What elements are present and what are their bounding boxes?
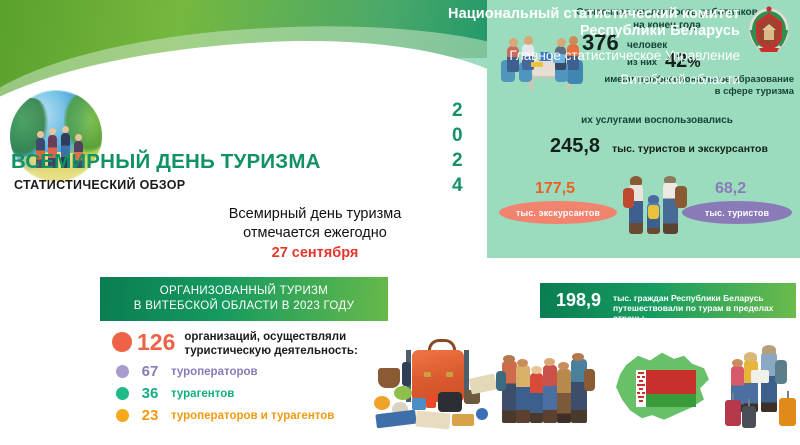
backpack-flap (412, 350, 464, 376)
travel-agents-value: 36 (129, 385, 171, 402)
traveler-hat-3 (762, 345, 776, 354)
legend-row-both: 23 туроператоров и турагентов (112, 407, 358, 424)
tourism-day-note: Всемирный день туризма отмечается ежегод… (150, 205, 480, 263)
both-bullet-icon (116, 409, 129, 422)
traveler-backpack (775, 360, 787, 384)
year-digit-3: 2 (452, 148, 463, 173)
organizations-total-value: 126 (137, 330, 175, 354)
group-person-3 (530, 373, 543, 423)
domestic-travel-value: 198,9 (556, 290, 601, 311)
group-head-3 (531, 366, 542, 374)
tourism-day-date: 27 сентября (150, 244, 480, 263)
globe-head-2 (49, 128, 56, 135)
gear-map (469, 373, 498, 394)
total-bullet-icon (112, 332, 132, 352)
gear-ball (476, 408, 488, 420)
legend-row-travel-agents: 36 турагентов (112, 385, 358, 402)
tourists-badge: тыс. туристов (682, 201, 792, 224)
organized-tourism-banner: ОРГАНИЗОВАННЫЙ ТУРИЗМ В ВИТЕБСКОЙ ОБЛАСТ… (100, 277, 388, 321)
luggage-orange (779, 398, 796, 426)
dept-name-line2: Витебской области (448, 71, 740, 88)
travel-agents-bullet-icon (116, 387, 129, 400)
gear-thermos (402, 362, 411, 386)
gear-can (426, 394, 436, 408)
traveler-hat-2 (744, 352, 757, 361)
gear-cabbage (394, 386, 412, 400)
gear-book-blue (375, 410, 416, 429)
tourist-group-illustration (502, 355, 594, 433)
organized-tourism-line1: ОРГАНИЗОВАННЫЙ ТУРИЗМ (134, 284, 355, 299)
group-head-2 (517, 359, 528, 367)
belarus-coat-of-arms-icon (746, 4, 792, 54)
year-label: 2 0 2 4 (452, 98, 463, 198)
page-subtitle: СТАТИСТИЧЕСКИЙ ОБЗОР (14, 178, 185, 192)
group-person-1 (502, 361, 517, 423)
belarus-map-icon (612, 348, 712, 428)
organizations-total-line2: туристическую деятельность: (184, 344, 357, 358)
backpack-buckle-2 (446, 372, 453, 377)
group-person-6 (571, 359, 587, 423)
group-backpack-right (584, 369, 595, 391)
travel-agents-label: турагентов (171, 388, 234, 400)
travel-gear-illustration (372, 328, 500, 444)
backpack-buckle-1 (424, 372, 431, 377)
globe-head-3 (62, 126, 69, 133)
hiker-child-backpack (648, 205, 659, 219)
tourists-value: 68,2 (715, 180, 746, 198)
legend-row-tour-operators: 67 туроператоров (112, 363, 358, 380)
dept-name-line1: Главное статистическое Управление (448, 47, 740, 64)
domestic-travel-line2: путешествовали по турам в пределах стран… (613, 303, 796, 323)
tour-operators-bullet-icon (116, 365, 129, 378)
tour-operators-label: туроператоров (171, 366, 258, 378)
organizations-total-row: 126 организаций, осуществляли туристичес… (112, 330, 358, 358)
infographic-page: Национальный статистический комитет Респ… (0, 0, 800, 445)
traveler-head-1 (732, 359, 743, 367)
tourism-day-line1: Всемирный день туризма (150, 205, 480, 224)
belarus-flag-icon (636, 370, 696, 407)
organizations-total-line1: организаций, осуществляли (184, 330, 357, 344)
header-text-block: Национальный статистический комитет Респ… (448, 6, 740, 88)
traveler-person-2 (744, 360, 758, 412)
gear-orange (374, 396, 390, 410)
group-backpack-left (496, 371, 506, 391)
organizations-legend: 126 организаций, осуществляли туристичес… (112, 330, 358, 424)
org-name-line2: Республики Беларусь (448, 23, 740, 40)
excursionists-value: 177,5 (535, 180, 575, 198)
domestic-travel-line1: тыс. граждан Республики Беларусь (613, 293, 764, 303)
both-label: туроператоров и турагентов (171, 410, 334, 422)
services-used-unit: тыс. туристов и экскурсантов (612, 143, 768, 155)
tour-operators-value: 67 (129, 363, 171, 380)
luggage-dark (742, 406, 756, 428)
gear-camera (438, 392, 462, 412)
hiker-backpack-right (675, 186, 687, 208)
group-person-5 (557, 369, 571, 423)
group-head-5 (558, 362, 569, 370)
group-head-4 (544, 358, 555, 366)
organizations-total-label: организаций, осуществляли туристическую … (184, 330, 357, 358)
services-used-value: 245,8 (550, 135, 600, 158)
hiker-backpack-left (623, 188, 634, 208)
domestic-travel-banner: 198,9 тыс. граждан Республики Беларусь п… (540, 283, 796, 318)
group-person-4 (543, 365, 557, 423)
year-digit-4: 4 (452, 173, 463, 198)
globe-head-4 (75, 134, 82, 141)
luggage-red (725, 400, 741, 426)
travelers-with-luggage-illustration (725, 348, 800, 436)
group-person-2 (516, 365, 530, 423)
hiker-hat-right (664, 176, 676, 183)
org-name-line1: Национальный статистический комитет (448, 6, 740, 23)
excursionists-badge: тыс. экскурсантов (499, 201, 617, 224)
gear-wallet (452, 414, 474, 426)
gear-hat (378, 368, 400, 388)
gear-documents (415, 411, 450, 430)
gear-bottle (412, 398, 426, 410)
traveler-map-paper (751, 370, 769, 383)
flag-ornament-band (636, 370, 646, 407)
globe-head-1 (37, 131, 44, 138)
hiker-child-hat (648, 195, 659, 203)
group-head-6 (572, 353, 584, 361)
tourism-day-line2: отмечается ежегодно (150, 224, 480, 243)
organized-tourism-line2: В ВИТЕБСКОЙ ОБЛАСТИ В 2023 ГОДУ (134, 299, 355, 314)
hiker-hat-left (630, 176, 642, 185)
year-digit-2: 0 (452, 123, 463, 148)
services-used-label: их услугами воспользовались (527, 115, 787, 126)
page-title: ВСЕМИРНЫЙ ДЕНЬ ТУРИЗМА (11, 150, 321, 174)
both-value: 23 (129, 407, 171, 424)
year-digit-1: 2 (452, 98, 463, 123)
group-head-1 (503, 355, 515, 363)
hiking-family-illustration (623, 176, 695, 250)
